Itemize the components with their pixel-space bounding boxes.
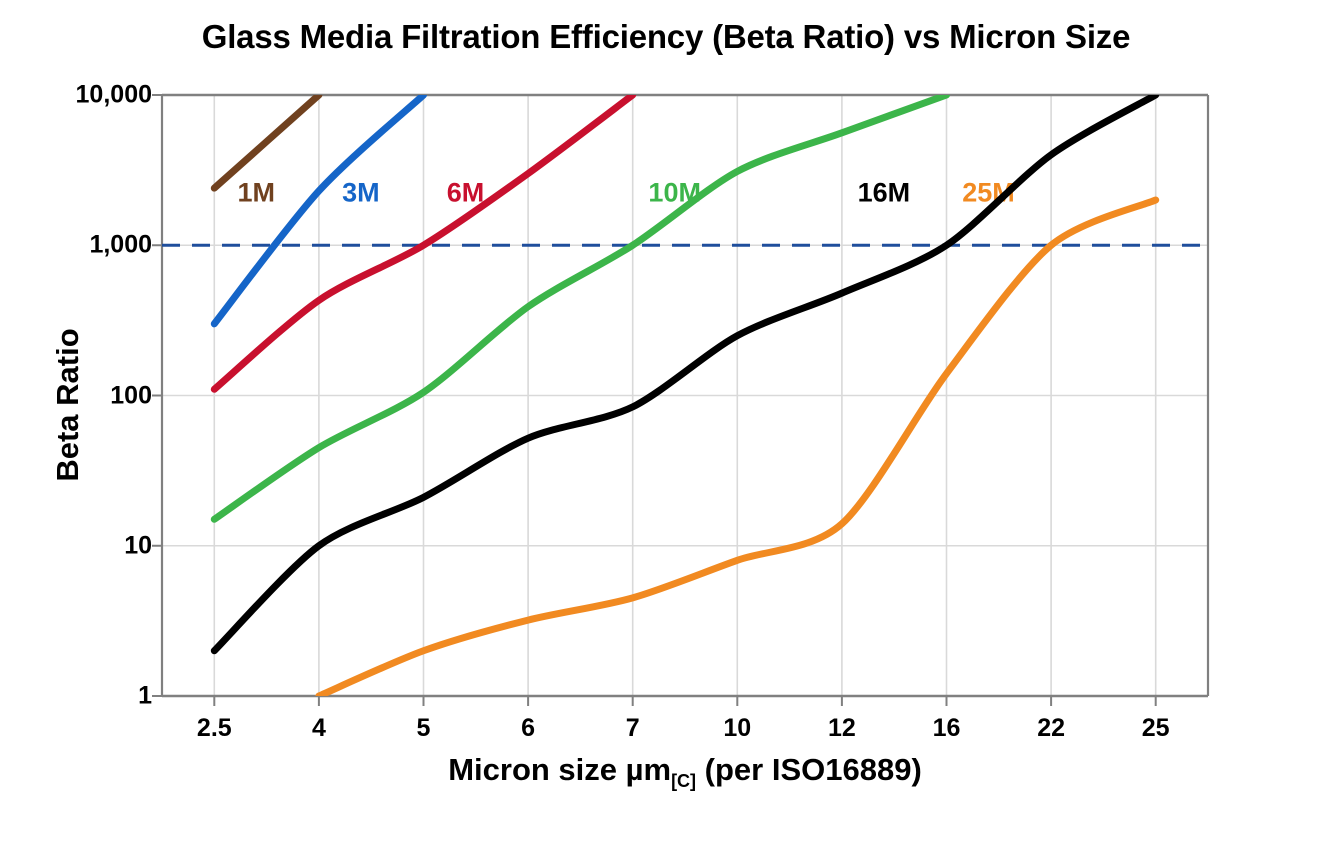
series-line-16m (214, 95, 1155, 651)
series-line-1m (214, 95, 319, 188)
tick-marks (152, 95, 1156, 706)
series-line-10m (214, 95, 946, 519)
gridlines (162, 95, 1208, 696)
plot-svg (0, 0, 1332, 842)
chart-container: Glass Media Filtration Efficiency (Beta … (0, 0, 1332, 842)
